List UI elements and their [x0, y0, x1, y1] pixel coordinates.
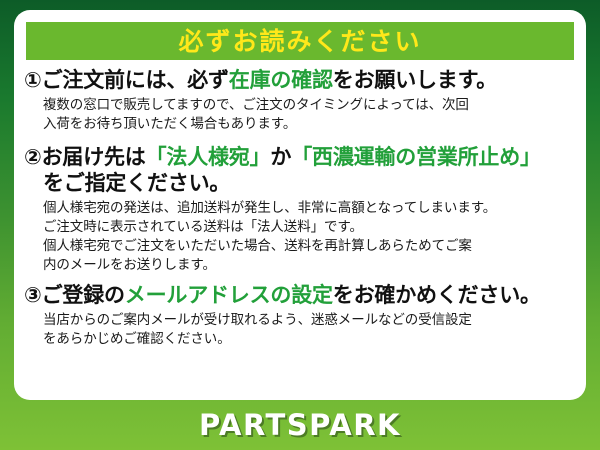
- notice-card: 必ずお読みください ①ご注文前には、必ず在庫の確認をお願いします。 複数の窓口で…: [0, 0, 600, 450]
- item-2-heading: ②お届け先は「法人様宛」か「西濃運輸の営業所止め」をご指定ください。: [24, 144, 578, 197]
- item-1-heading-highlight: 在庫の確認: [229, 68, 333, 92]
- item-2-body-line-1: 個人様宅宛の発送は、追加送料が発生し、非常に高額となってしまいます。: [43, 199, 578, 218]
- item-2-heading-pre: お届け先は: [42, 145, 146, 169]
- item-1-heading: ①ご注文前には、必ず在庫の確認をお願いします。: [24, 68, 578, 94]
- item-1-body: 複数の窓口で販売してますので、ご注文のタイミングによっては、次回 入荷をお待ち頂…: [24, 96, 578, 134]
- item-2-body-line-3: 個人様宅宛でご注文をいただいた場合、送料を再計算しあらためてご案: [43, 237, 578, 256]
- footer-brand-bar: PARTSPARK: [0, 400, 600, 450]
- item-2-number: ②: [24, 145, 42, 169]
- item-2-heading-highlight-2: 「西濃運輸の営業所止め」: [291, 145, 541, 169]
- item-2-body-line-4: 内のメールをお送りします。: [43, 256, 578, 275]
- notice-panel: 必ずお読みください ①ご注文前には、必ず在庫の確認をお願いします。 複数の窓口で…: [14, 10, 586, 400]
- item-1-body-line-1: 複数の窓口で販売してますので、ご注文のタイミングによっては、次回: [43, 96, 578, 115]
- item-2-heading-post: をご指定ください。: [24, 170, 578, 196]
- item-1-heading-post: をお願いします。: [333, 68, 497, 92]
- brand-logo-text: PARTSPARK: [199, 411, 401, 440]
- notice-item-1: ①ご注文前には、必ず在庫の確認をお願いします。 複数の窓口で販売してますので、ご…: [14, 68, 586, 134]
- item-1-heading-pre: ご注文前には、必ず: [42, 68, 229, 92]
- item-2-heading-highlight: 「法人様宛」: [146, 145, 271, 169]
- item-2-heading-mid: か: [270, 145, 291, 169]
- item-3-number: ③: [24, 283, 42, 307]
- item-3-heading-pre: ご登録の: [42, 283, 125, 307]
- item-2-body-line-2: ご注文時に表示されている送料は「法人送料」です。: [43, 218, 578, 237]
- notice-banner: 必ずお読みください: [26, 22, 574, 60]
- item-1-number: ①: [24, 68, 42, 92]
- item-1-body-line-2: 入荷をお待ち頂いただく場合もあります。: [43, 115, 578, 134]
- notice-items-list: ①ご注文前には、必ず在庫の確認をお願いします。 複数の窓口で販売してますので、ご…: [14, 68, 586, 349]
- item-3-body-line-1: 当店からのご案内メールが受け取れるよう、迷惑メールなどの受信設定: [43, 311, 578, 330]
- item-3-body: 当店からのご案内メールが受け取れるよう、迷惑メールなどの受信設定 をあらかじめご…: [24, 311, 578, 349]
- notice-item-2: ②お届け先は「法人様宛」か「西濃運輸の営業所止め」をご指定ください。 個人様宅宛…: [14, 144, 586, 276]
- banner-title: 必ずお読みください: [178, 29, 421, 54]
- item-3-heading-post: をお確かめください。: [333, 283, 541, 307]
- item-3-heading-highlight: メールアドレスの設定: [125, 283, 333, 307]
- item-2-body: 個人様宅宛の発送は、追加送料が発生し、非常に高額となってしまいます。 ご注文時に…: [24, 199, 578, 276]
- item-3-heading: ③ご登録のメールアドレスの設定をお確かめください。: [24, 283, 578, 309]
- notice-item-3: ③ご登録のメールアドレスの設定をお確かめください。 当店からのご案内メールが受け…: [14, 283, 586, 349]
- item-3-body-line-2: をあらかじめご確認ください。: [43, 330, 578, 349]
